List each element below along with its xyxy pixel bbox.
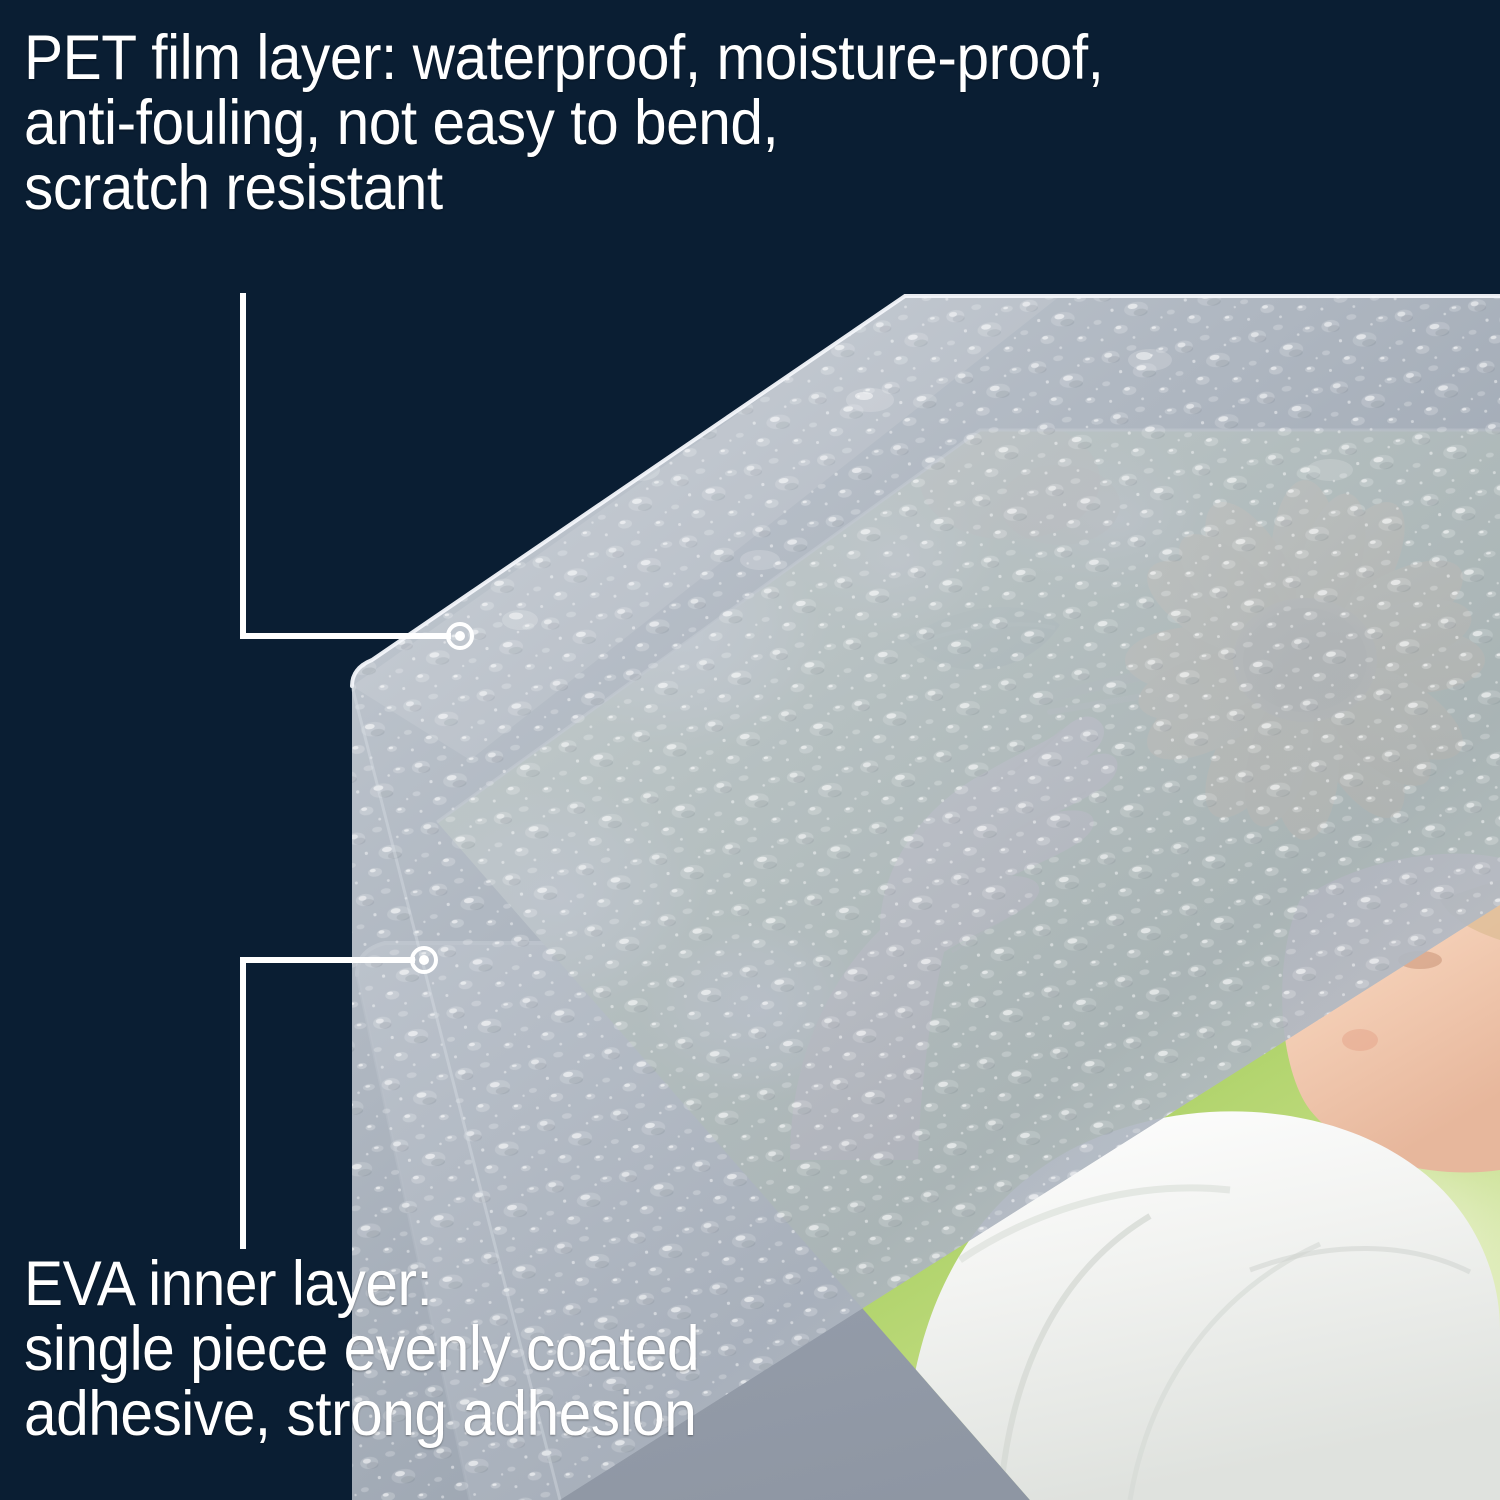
product-layer-infographic: PET film layer: waterproof, moisture-pro… [0, 0, 1500, 1500]
pet-film-layer-caption: PET film layer: waterproof, moisture-pro… [24, 26, 1103, 221]
eva-inner-layer-caption: EVA inner layer: single piece evenly coa… [24, 1252, 699, 1447]
